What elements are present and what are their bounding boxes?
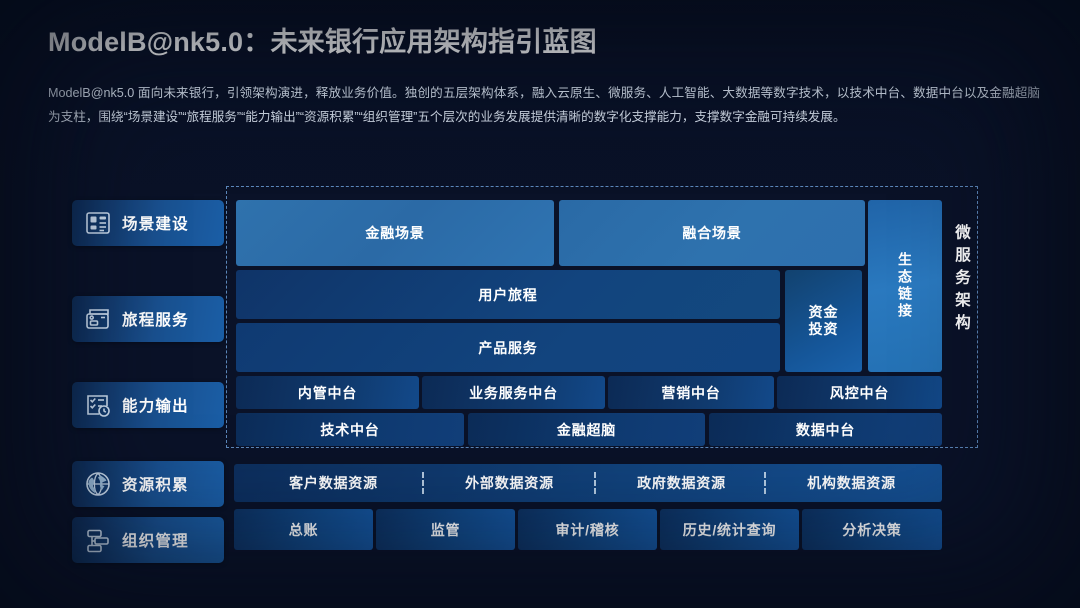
- journey-box-product-service[interactable]: 产品服务: [236, 323, 780, 372]
- sidebar-item-label: 旅程服务: [122, 308, 189, 330]
- capability-box-data[interactable]: 数据中台: [709, 413, 942, 446]
- capability-box-business-service[interactable]: 业务服务中台: [422, 376, 605, 409]
- org-box-analysis-decision[interactable]: 分析决策: [802, 509, 942, 550]
- ecosystem-link-label: 生态链接: [895, 252, 915, 320]
- sidebar-item-label: 资源积累: [122, 473, 189, 495]
- page-title: ModelB@nk5.0：未来银行应用架构指引蓝图: [48, 20, 1058, 59]
- capability-box-marketing[interactable]: 营销中台: [608, 376, 774, 409]
- sidebar-item-scene[interactable]: 场景建设: [72, 200, 224, 246]
- scene-box-integrated[interactable]: 融合场景: [559, 200, 865, 266]
- checklist-clock-icon: [83, 390, 113, 420]
- scene-box-financial[interactable]: 金融场景: [236, 200, 554, 266]
- org-box-history-query[interactable]: 历史/统计查询: [660, 509, 799, 550]
- sidebar-item-org[interactable]: 组织管理: [72, 517, 224, 563]
- sidebar-item-label: 能力输出: [122, 394, 189, 416]
- sidebar-item-journey[interactable]: 旅程服务: [72, 296, 224, 342]
- layout-grid-icon: [83, 208, 113, 238]
- resource-divider: [594, 472, 596, 494]
- card-icon: [83, 304, 113, 334]
- page-description: ModelB@nk5.0 面向未来银行，引领架构演进，释放业务价值。独创的五层架…: [48, 81, 1040, 129]
- capability-box-risk-control[interactable]: 风控中台: [777, 376, 942, 409]
- resource-divider: [764, 472, 766, 494]
- resource-divider: [422, 472, 424, 494]
- capability-box-financial-brain[interactable]: 金融超脑: [468, 413, 705, 446]
- sidebar-item-label: 组织管理: [122, 529, 189, 551]
- layer-rail: 场景建设 旅程服务: [72, 186, 222, 578]
- org-box-supervision[interactable]: 监管: [376, 509, 515, 550]
- globe-icon: [83, 469, 113, 499]
- capability-box-internal[interactable]: 内管中台: [236, 376, 419, 409]
- sidebar-item-label: 场景建设: [122, 212, 189, 234]
- sidebar-item-resource[interactable]: 资源积累: [72, 461, 224, 507]
- fund-line-1: 资金: [809, 304, 839, 321]
- org-chart-icon: [83, 525, 113, 555]
- resource-item-government[interactable]: 政府数据资源: [604, 473, 759, 493]
- org-box-general-ledger[interactable]: 总账: [234, 509, 373, 550]
- architecture-diagram: 场景建设 旅程服务: [0, 186, 1080, 578]
- resource-item-institution[interactable]: 机构数据资源: [774, 473, 929, 493]
- resource-item-customer[interactable]: 客户数据资源: [256, 473, 411, 493]
- header: ModelB@nk5.0：未来银行应用架构指引蓝图 ModelB@nk5.0 面…: [48, 20, 1058, 129]
- fund-line-2: 投资: [809, 321, 839, 338]
- resource-row[interactable]: 客户数据资源 外部数据资源 政府数据资源 机构数据资源: [234, 464, 942, 502]
- sidebar-item-capability[interactable]: 能力输出: [72, 382, 224, 428]
- capability-box-technology[interactable]: 技术中台: [236, 413, 464, 446]
- org-box-audit[interactable]: 审计/稽核: [518, 509, 657, 550]
- resource-item-external[interactable]: 外部数据资源: [432, 473, 587, 493]
- ecosystem-link-box[interactable]: 生态链接: [868, 200, 942, 372]
- microservice-architecture-label: 微服务架构: [950, 224, 972, 337]
- journey-box-user-journey[interactable]: 用户旅程: [236, 270, 780, 319]
- fund-investment-box[interactable]: 资金 投资: [785, 270, 862, 372]
